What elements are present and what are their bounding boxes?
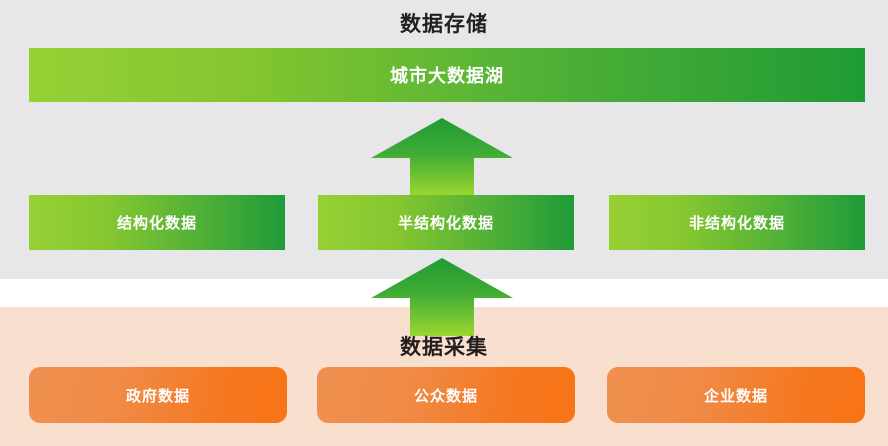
- data-source-box[interactable]: 政府数据: [29, 367, 287, 423]
- collection-section-title: 数据采集: [0, 331, 888, 361]
- data-category-row: 结构化数据 半结构化数据 非结构化数据: [0, 195, 888, 250]
- data-source-label: 企业数据: [704, 385, 768, 406]
- storage-section-title: 数据存储: [0, 8, 888, 38]
- data-category-label: 半结构化数据: [398, 212, 494, 233]
- data-category-box[interactable]: 结构化数据: [29, 195, 285, 250]
- city-big-data-lake-bar[interactable]: 城市大数据湖: [29, 48, 865, 102]
- city-big-data-lake-label: 城市大数据湖: [390, 62, 504, 88]
- upper-flow-arrow-icon: [371, 118, 513, 196]
- data-source-label: 政府数据: [126, 385, 190, 406]
- data-source-box[interactable]: 企业数据: [607, 367, 865, 423]
- data-category-box[interactable]: 半结构化数据: [318, 195, 574, 250]
- data-platform-diagram: 数据存储 城市大数据湖 结构化数据 半结构化数据 非结构化数据: [0, 0, 888, 446]
- data-source-row: 政府数据 公众数据 企业数据: [0, 367, 888, 423]
- data-category-label: 非结构化数据: [689, 212, 785, 233]
- data-source-box[interactable]: 公众数据: [317, 367, 575, 423]
- lower-flow-arrow-icon: [371, 258, 513, 336]
- data-category-label: 结构化数据: [117, 212, 197, 233]
- data-category-box[interactable]: 非结构化数据: [609, 195, 865, 250]
- data-source-label: 公众数据: [414, 385, 478, 406]
